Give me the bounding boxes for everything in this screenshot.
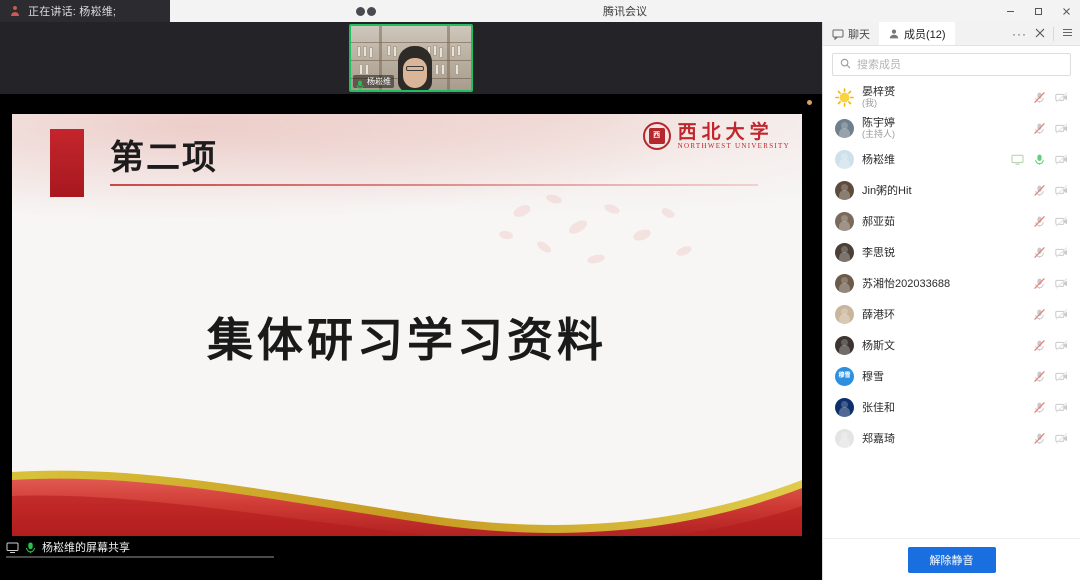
window-title: 腾讯会议 (603, 3, 647, 19)
microphone-muted-icon[interactable] (1033, 277, 1046, 290)
seal-character: 西 (649, 128, 665, 144)
member-row[interactable]: 郝亚茹 (823, 206, 1080, 237)
slide-heading: 第二项 (110, 130, 218, 179)
member-name-block: 晏梓赟 (我) (862, 86, 1025, 109)
member-row[interactable]: Jin粥的Hit (823, 175, 1080, 206)
video-filmstrip: 杨崧维 (0, 22, 822, 94)
meeting-window: 正在讲话: 杨崧维; 腾讯会议 (0, 0, 1080, 580)
tab-chat[interactable]: 聊天 (823, 22, 879, 45)
screen-share-area[interactable]: 第二项 西 西北大学 NORTHWEST UNIVERSITY 集体研习学习资料 (0, 94, 822, 558)
drag-handle[interactable] (344, 3, 388, 19)
search-input[interactable] (857, 59, 1063, 71)
member-name-block: 李思锐 (862, 247, 1025, 259)
video-tile-self[interactable]: 杨崧维 (349, 24, 473, 92)
speaking-label: 正在讲话: 杨崧维; (28, 3, 116, 19)
panel-footer: 解除静音 (823, 538, 1080, 580)
status-underline (6, 556, 274, 558)
share-indicator-dot (807, 100, 812, 105)
slide-accent-block (50, 129, 84, 197)
university-logo: 西 西北大学 NORTHWEST UNIVERSITY (643, 122, 790, 150)
minimize-button[interactable] (996, 0, 1024, 22)
speaker-person-icon (8, 4, 22, 18)
chat-icon (832, 28, 844, 40)
microphone-muted-icon[interactable] (1033, 91, 1046, 104)
avatar (835, 119, 854, 138)
unmute-button[interactable]: 解除静音 (908, 547, 996, 573)
panel-more-button[interactable]: ··· (1012, 27, 1027, 41)
member-name: 杨崧维 (862, 154, 1003, 166)
presentation-slide: 第二项 西 西北大学 NORTHWEST UNIVERSITY 集体研习学习资料 (12, 114, 802, 556)
camera-off-icon[interactable] (1055, 246, 1068, 259)
member-status-icons (1033, 370, 1070, 383)
member-name: 晏梓赟 (862, 86, 1025, 98)
member-name-block: 苏湘怡202033688 (862, 278, 1025, 290)
member-row[interactable]: 郑嘉琦 (823, 423, 1080, 454)
member-name: 穆雪 (862, 371, 1025, 383)
avatar (835, 336, 854, 355)
member-status-icons (1033, 184, 1070, 197)
member-list[interactable]: 晏梓赟 (我) 陈宇婷 (主持人) (823, 81, 1080, 538)
microphone-on-icon (24, 541, 37, 554)
member-row[interactable]: 张佳和 (823, 392, 1080, 423)
shared-slide: 第二项 西 西北大学 NORTHWEST UNIVERSITY 集体研习学习资料 (12, 114, 802, 556)
member-name: 苏湘怡202033688 (862, 278, 1025, 290)
members-icon (888, 28, 900, 40)
camera-off-icon[interactable] (1055, 401, 1068, 414)
share-status-text: 杨崧维的屏幕共享 (42, 539, 130, 555)
camera-off-icon[interactable] (1055, 308, 1068, 321)
speaking-indicator: 正在讲话: 杨崧维; (0, 0, 170, 22)
member-status-icons (1033, 432, 1070, 445)
university-name-cn: 西北大学 (678, 123, 790, 142)
member-status-icons (1033, 91, 1070, 104)
tab-chat-label: 聊天 (848, 26, 870, 42)
member-name: 张佳和 (862, 402, 1025, 414)
member-name-block: Jin粥的Hit (862, 185, 1025, 197)
member-status-icons (1033, 308, 1070, 321)
member-name-block: 杨斯文 (862, 340, 1025, 352)
member-status-icons (1033, 246, 1070, 259)
member-name: 郝亚茹 (862, 216, 1025, 228)
camera-off-icon[interactable] (1055, 215, 1068, 228)
member-role: (主持人) (862, 129, 1025, 140)
member-status-icons (1033, 215, 1070, 228)
member-name: Jin粥的Hit (862, 185, 1025, 197)
member-name: 薛港环 (862, 309, 1025, 321)
title-bar: 正在讲话: 杨崧维; 腾讯会议 (0, 0, 1080, 22)
meeting-stage: 杨崧维 (0, 22, 822, 558)
video-tile-label: 杨崧维 (353, 75, 394, 88)
microphone-muted-icon[interactable] (1033, 370, 1046, 383)
member-name-block: 郑嘉琦 (862, 433, 1025, 445)
member-row[interactable]: 苏湘怡202033688 (823, 268, 1080, 299)
video-tile-name: 杨崧维 (367, 76, 391, 87)
slide-main-text: 集体研习学习资料 (12, 304, 802, 370)
microphone-muted-icon[interactable] (1033, 246, 1046, 259)
member-status-icons (1033, 277, 1070, 290)
side-panel: 聊天 成员(12) ··· (822, 22, 1080, 580)
avatar (835, 398, 854, 417)
microphone-muted-icon[interactable] (1033, 432, 1046, 445)
member-search-wrap (823, 46, 1080, 81)
screen-share-icon (6, 541, 19, 554)
participant-silhouette (398, 46, 432, 92)
member-row[interactable]: 薛港环 (823, 299, 1080, 330)
member-name-block: 杨崧维 (862, 154, 1003, 166)
camera-off-icon[interactable] (1055, 122, 1068, 135)
member-row[interactable]: 杨崧维 (823, 144, 1080, 175)
close-button[interactable] (1052, 0, 1080, 22)
member-name: 杨斯文 (862, 340, 1025, 352)
member-row[interactable]: 穆雪 穆雪 (823, 361, 1080, 392)
maximize-button[interactable] (1024, 0, 1052, 22)
member-name: 陈宇婷 (862, 117, 1025, 129)
member-row[interactable]: 杨斯文 (823, 330, 1080, 361)
avatar (835, 212, 854, 231)
camera-off-icon[interactable] (1055, 370, 1068, 383)
member-name-block: 薛港环 (862, 309, 1025, 321)
avatar (835, 243, 854, 262)
camera-off-icon[interactable] (1055, 277, 1068, 290)
microphone-muted-icon[interactable] (1033, 122, 1046, 135)
member-name-block: 张佳和 (862, 402, 1025, 414)
microphone-muted-icon[interactable] (1033, 339, 1046, 352)
search-box[interactable] (832, 53, 1071, 76)
avatar (835, 150, 854, 169)
camera-off-icon[interactable] (1055, 153, 1068, 166)
avatar (835, 274, 854, 293)
member-row[interactable]: 陈宇婷 (主持人) (823, 113, 1080, 144)
panel-tab-bar: 聊天 成员(12) ··· (823, 22, 1080, 46)
member-status-icons (1011, 153, 1070, 166)
microphone-muted-icon[interactable] (1033, 308, 1046, 321)
university-name-en: NORTHWEST UNIVERSITY (678, 143, 790, 150)
slide-title-rule (110, 184, 758, 186)
member-status-icons (1033, 339, 1070, 352)
panel-menu-button[interactable] (1062, 27, 1073, 41)
tab-members-label: 成员(12) (904, 26, 946, 42)
avatar: 穆雪 (835, 367, 854, 386)
member-status-icons (1033, 401, 1070, 414)
panel-close-button[interactable] (1035, 27, 1045, 41)
member-name: 李思锐 (862, 247, 1025, 259)
university-seal-icon: 西 (643, 122, 671, 150)
member-name-block: 陈宇婷 (主持人) (862, 117, 1025, 140)
avatar (835, 181, 854, 200)
tab-members[interactable]: 成员(12) (879, 22, 955, 45)
member-name-block: 穆雪 (862, 371, 1025, 383)
avatar (835, 429, 854, 448)
share-status-bar: 杨崧维的屏幕共享 (0, 536, 822, 558)
window-controls (994, 0, 1080, 22)
member-status-icons (1033, 122, 1070, 135)
camera-off-icon[interactable] (1055, 184, 1068, 197)
avatar (835, 305, 854, 324)
camera-off-icon[interactable] (1055, 91, 1068, 104)
microphone-on-icon[interactable] (1033, 153, 1046, 166)
member-row[interactable]: 李思锐 (823, 237, 1080, 268)
avatar (835, 88, 854, 107)
member-role: (我) (862, 98, 1025, 109)
member-row[interactable]: 晏梓赟 (我) (823, 82, 1080, 113)
window-title-area: 腾讯会议 (170, 0, 1080, 22)
microphone-muted-icon[interactable] (1033, 215, 1046, 228)
camera-off-icon[interactable] (1055, 339, 1068, 352)
member-name: 郑嘉琦 (862, 433, 1025, 445)
search-icon (840, 56, 851, 74)
microphone-on-icon (356, 77, 364, 87)
microphone-muted-icon[interactable] (1033, 184, 1046, 197)
microphone-muted-icon[interactable] (1033, 401, 1046, 414)
member-name-block: 郝亚茹 (862, 216, 1025, 228)
panel-actions: ··· (1005, 22, 1080, 45)
camera-off-icon[interactable] (1055, 432, 1068, 445)
screen-share-icon[interactable] (1011, 153, 1024, 166)
